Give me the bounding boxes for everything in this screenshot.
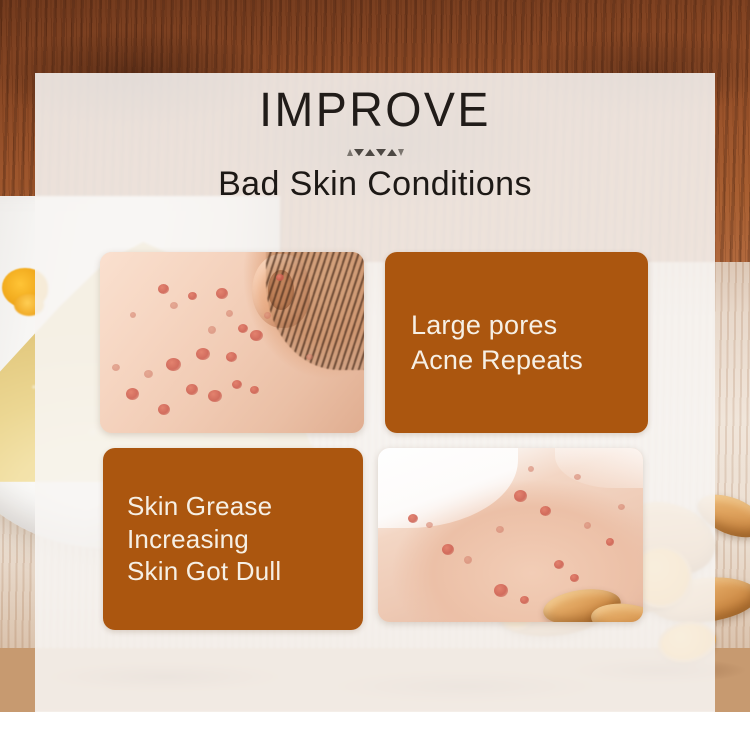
bottom-white-strip <box>0 712 750 750</box>
condition-grid: Large pores Acne Repeats Skin Grease Inc… <box>100 252 648 630</box>
triangle-divider-icon <box>345 145 405 159</box>
page-subtitle: Bad Skin Conditions <box>35 165 715 204</box>
poster-canvas: IMPROVE Bad Skin Conditions <box>0 0 750 750</box>
condition-card-large-pores: Large pores Acne Repeats <box>385 252 648 433</box>
condition-card-text: Large pores Acne Repeats <box>385 308 583 376</box>
acne-spots-layer <box>100 252 364 433</box>
header-block: IMPROVE Bad Skin Conditions <box>35 86 715 204</box>
turmeric-root-overlap <box>537 578 643 622</box>
acne-back-photo <box>378 448 643 622</box>
condition-card-text: Skin Grease Increasing Skin Got Dull <box>103 490 281 588</box>
acne-face-photo <box>100 252 364 433</box>
page-title: IMPROVE <box>45 86 705 136</box>
condition-card-skin-grease: Skin Grease Increasing Skin Got Dull <box>103 448 363 630</box>
